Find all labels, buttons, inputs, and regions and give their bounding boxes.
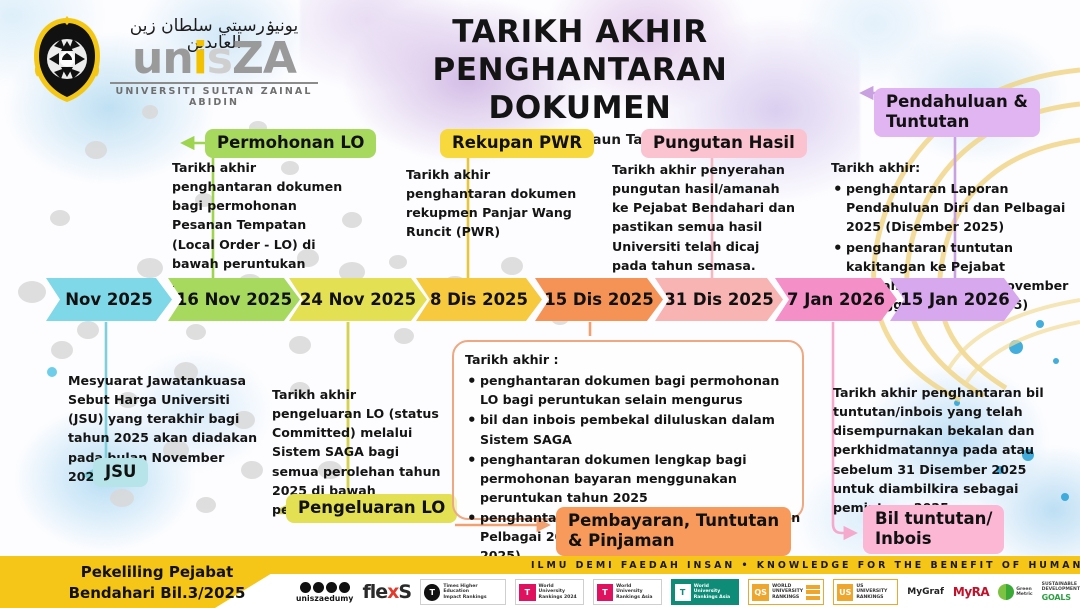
unisza-crest-icon bbox=[24, 14, 110, 106]
qs-rankings-logo: QS WORLDUNIVERSITYRANKINGS bbox=[748, 579, 824, 605]
ui-greenmetric-logo: GreenMetric bbox=[998, 584, 1032, 600]
card-permohonan-lo-body: Tarikh akhir penghantaran dokumen bagi p… bbox=[172, 158, 352, 292]
unisza-wordmark: يونيۏرسيتي سلطان زين العابدين unisZA UNI… bbox=[110, 18, 318, 108]
flexs-logo: flexS bbox=[362, 580, 411, 604]
badge-rekupan-pwr[interactable]: Rekupan PWR bbox=[440, 129, 594, 158]
card-rekupan-pwr-body: Tarikh akhir penghantaran dokumen rekupm… bbox=[406, 165, 581, 242]
the-logo-mark: T bbox=[424, 584, 440, 601]
wordmark-za: ZA bbox=[232, 33, 296, 84]
mygraf-logo: MyGraf bbox=[907, 580, 944, 604]
infographic-canvas: يونيۏرسيتي سلطان زين العابدين unisZA UNI… bbox=[0, 0, 1080, 608]
youtube-icon[interactable] bbox=[339, 582, 350, 593]
qs-logo-mark: QS bbox=[752, 584, 769, 601]
card-bil-tuntutan-body: Tarikh akhir penghantaran bil tuntutan/i… bbox=[833, 383, 1047, 517]
us-university-rankings-logo: US US UNIVERSITYRANKINGS bbox=[833, 579, 898, 605]
list-item: bil dan inbois pembekal diluluskan dalam… bbox=[465, 410, 801, 448]
wordmark-un: un bbox=[132, 33, 193, 84]
myra-logo: MyRA bbox=[953, 580, 989, 604]
badge-pembayaran-tuntutan-pinjaman[interactable]: Pembayaran, Tuntutan & Pinjaman bbox=[556, 507, 791, 556]
twitter-icon[interactable] bbox=[313, 582, 324, 593]
title-line-2: PENGHANTARAN DOKUMEN bbox=[350, 52, 810, 128]
footer: Pekeliling Pejabat Bendahari Bil.3/2025 … bbox=[0, 556, 1080, 608]
milestone-8-dis-2025[interactable]: 8 Dis 2025 bbox=[416, 278, 542, 321]
qs-bars bbox=[806, 585, 820, 600]
circular-line-2: Bendahari Bil.3/2025 bbox=[22, 583, 292, 604]
circular-line-1: Pekeliling Pejabat bbox=[22, 562, 292, 583]
milestone-16-nov-2025[interactable]: 16 Nov 2025 bbox=[168, 278, 300, 321]
list-item: penghantaran Laporan Pendahuluan Diri da… bbox=[831, 179, 1077, 236]
milestone-7-jan-2026[interactable]: 7 Jan 2026 bbox=[775, 278, 897, 321]
us-logo-mark: US bbox=[837, 584, 853, 601]
milestone-31-dis-2025[interactable]: 31 Dis 2025 bbox=[655, 278, 783, 321]
greenmetric-globe-icon bbox=[998, 584, 1014, 600]
university-motto: ILMU DEMI FAEDAH INSAN • KNOWLEDGE FOR T… bbox=[560, 557, 1080, 574]
badge-jsu[interactable]: JSU bbox=[93, 458, 148, 487]
social-handle: uniszaedumy bbox=[296, 594, 353, 603]
unisza-logo: يونيۏرسيتي سلطان زين العابدين unisZA UNI… bbox=[18, 10, 318, 106]
footer-logo-strip: uniszaedumy flexS T Times Higher Educati… bbox=[296, 576, 1080, 608]
milestone-24-nov-2025[interactable]: 24 Nov 2025 bbox=[289, 278, 427, 321]
badge-pendahuluan-tuntutan[interactable]: Pendahuluan & Tuntutan bbox=[874, 88, 1040, 137]
the-world-university-rankings-logo: T World UniversityRankings 2024 bbox=[515, 579, 584, 605]
instagram-icon[interactable] bbox=[326, 582, 337, 593]
the-logo-mark: T bbox=[597, 584, 613, 601]
badge-pengeluaran-lo[interactable]: Pengeluaran LO bbox=[286, 494, 457, 523]
list-item: penghantaran dokumen bagi permohonan LO … bbox=[465, 371, 801, 409]
wordmark-i: i bbox=[193, 33, 207, 84]
list-item: penghantaran dokumen lengkap bagi permoh… bbox=[465, 450, 801, 507]
university-tagline: UNIVERSITI SULTAN ZAINAL ABIDIN bbox=[110, 86, 318, 108]
social-icons[interactable] bbox=[300, 582, 350, 593]
unisza-text: unisZA bbox=[110, 38, 318, 80]
milestone-15-dis-2025[interactable]: 15 Dis 2025 bbox=[535, 278, 663, 321]
title-line-1: TARIKH AKHIR bbox=[350, 14, 810, 52]
the-asia-rankings-logo: T World UniversityRankings Asia bbox=[593, 579, 662, 605]
milestone-nov-2025[interactable]: Nov 2025 bbox=[46, 278, 172, 321]
sdg-logo: SUSTAINABLEDEVELOPMENTGOALS bbox=[1042, 582, 1080, 603]
badge-pungutan-hasil[interactable]: Pungutan Hasil bbox=[641, 129, 807, 158]
wordmark-s: s bbox=[207, 33, 232, 84]
social-media-block[interactable]: uniszaedumy bbox=[296, 582, 353, 603]
card-pembayaran-intro: Tarikh akhir : bbox=[465, 350, 801, 369]
badge-bil-tuntutan-inbois[interactable]: Bil tuntutan/ Inbois bbox=[863, 505, 1004, 554]
milestone-15-jan-2026[interactable]: 15 Jan 2026 bbox=[890, 278, 1020, 321]
the-impact-rankings-logo: T Times Higher EducationImpact Rankings bbox=[420, 579, 506, 605]
the-logo-mark: T bbox=[519, 584, 535, 601]
card-pungutan-hasil-body: Tarikh akhir penyerahan pungutan hasil/a… bbox=[612, 160, 798, 275]
badge-permohonan-lo[interactable]: Permohonan LO bbox=[205, 129, 376, 158]
card-pendahuluan-intro: Tarikh akhir: bbox=[831, 158, 1077, 177]
the-asia-green-logo: T World UniversityRankings Asia bbox=[671, 579, 740, 605]
facebook-icon[interactable] bbox=[300, 582, 311, 593]
the-logo-mark: T bbox=[675, 584, 691, 601]
circular-reference: Pekeliling Pejabat Bendahari Bil.3/2025 bbox=[22, 562, 292, 605]
